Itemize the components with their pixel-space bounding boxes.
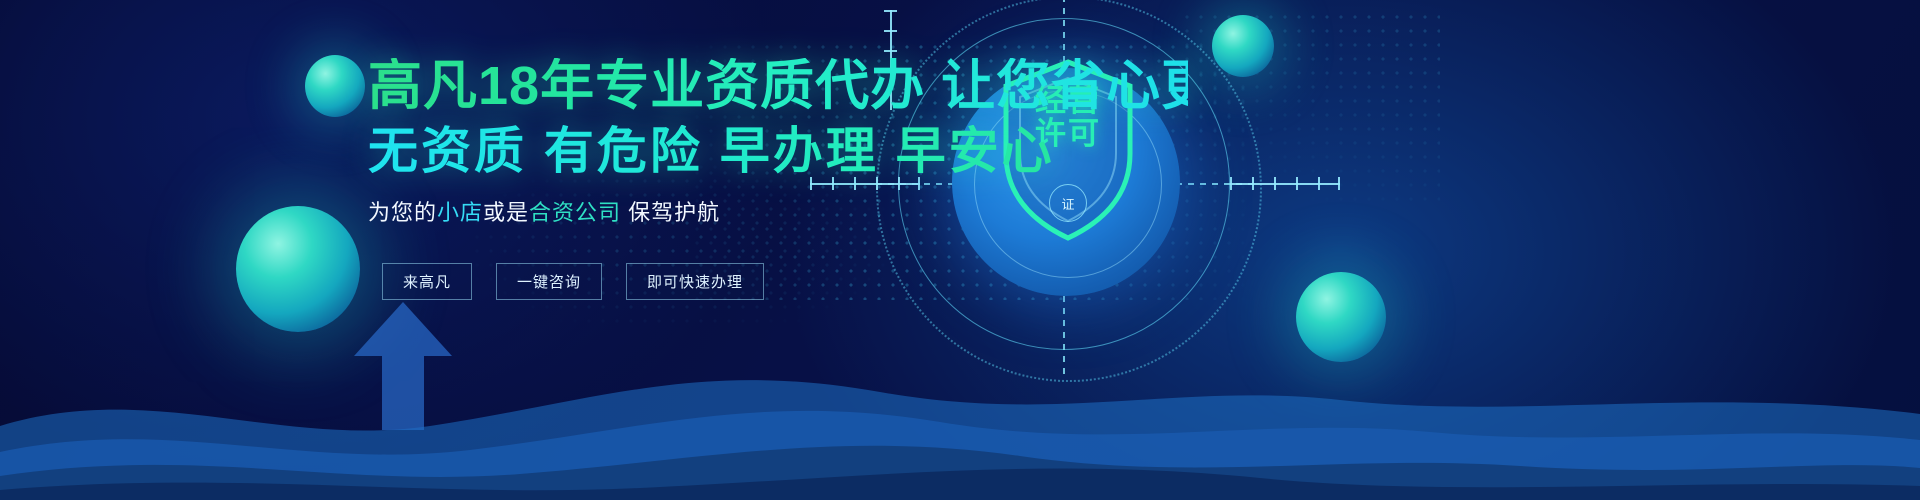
- promotional-banner: 经营 许可 证 高凡18年专业资质代办 让您省心更省力 无资质 有危险 早办理 …: [0, 0, 1920, 500]
- supporting-text-part2: 小店: [437, 200, 483, 225]
- page-subtitle: 无资质 有危险 早办理 早安心: [368, 125, 1188, 178]
- supporting-text-part4: 合资公司: [529, 200, 621, 225]
- wave-decoration: [0, 330, 1920, 500]
- glowing-sphere-top-left: [305, 55, 365, 117]
- cta-pill-group: 来高凡 一键咨询 即可快速办理: [382, 263, 764, 300]
- pill-button-1[interactable]: 来高凡: [382, 263, 472, 300]
- supporting-text-part1: 为您的: [368, 200, 437, 225]
- supporting-text: 为您的小店或是合资公司 保驾护航: [368, 195, 1188, 227]
- supporting-text-part3: 或是: [483, 200, 529, 225]
- pill-button-3[interactable]: 即可快速办理: [626, 263, 764, 300]
- glowing-sphere-left: [236, 206, 360, 332]
- supporting-text-part5: 保驾护航: [621, 200, 720, 225]
- pill-button-2[interactable]: 一键咨询: [496, 263, 602, 300]
- radar-tick-scale-right-icon: [1230, 183, 1340, 185]
- page-title: 高凡18年专业资质代办 让您省心更省力: [368, 58, 1188, 115]
- headline-block: 高凡18年专业资质代办 让您省心更省力 无资质 有危险 早办理 早安心 为您的小…: [368, 58, 1188, 227]
